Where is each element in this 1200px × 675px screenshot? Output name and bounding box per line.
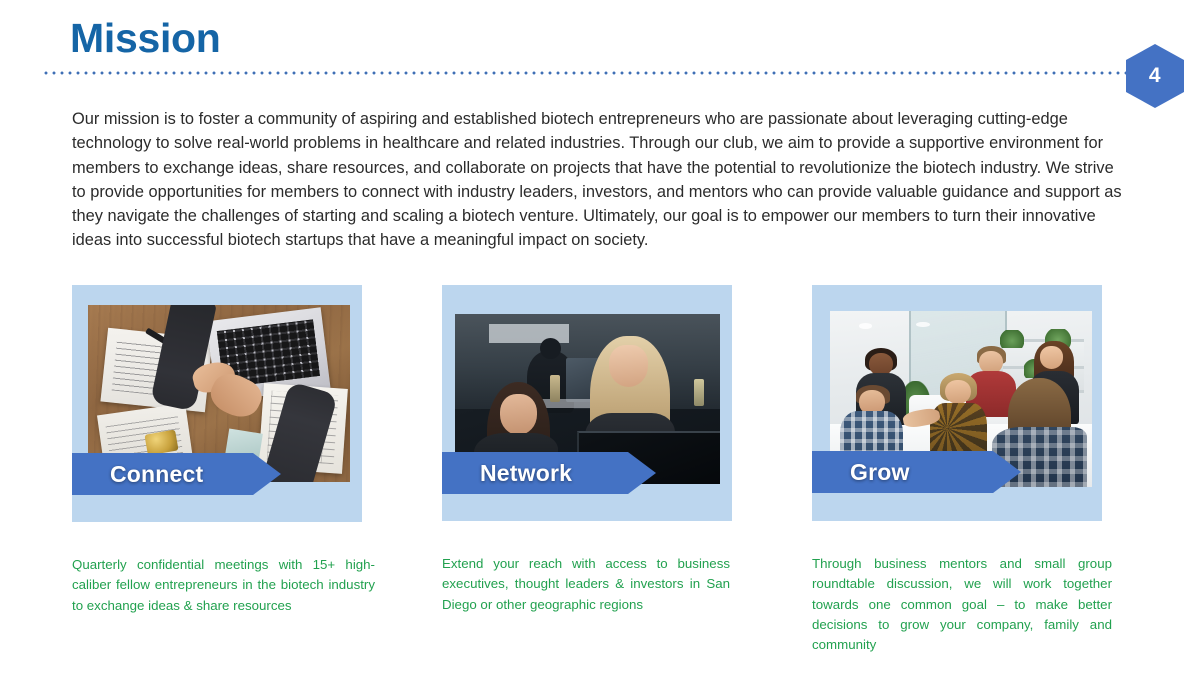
bottle-two-decor — [694, 379, 705, 406]
feature-card-grow: Grow Through business mentors and small … — [812, 285, 1102, 655]
plant-one-decor — [1000, 330, 1024, 348]
page-title: Mission — [70, 16, 221, 61]
right-woman-face-decor — [1040, 346, 1064, 369]
card-banner-label: Grow — [812, 459, 910, 486]
ceiling-light-one-decor — [859, 323, 872, 328]
brunette-woman-face-decor — [500, 394, 537, 435]
card-frame: Connect — [72, 285, 362, 522]
dotted-divider — [42, 71, 1127, 75]
card-frame: Network — [442, 285, 732, 521]
card-caption-network: Extend your reach with access to busines… — [442, 554, 730, 615]
card-banner-network: Network — [442, 452, 656, 494]
card-banner-label: Network — [442, 460, 572, 487]
card-caption-connect: Quarterly confidential meetings with 15+… — [72, 555, 375, 616]
ceiling-light-two-decor — [916, 322, 929, 327]
card-banner-label: Connect — [72, 461, 203, 488]
page-number-badge: 4 — [1126, 44, 1184, 108]
bottle-decor — [550, 375, 559, 402]
card-banner-grow: Grow — [812, 451, 1021, 493]
feature-card-network: Network Extend your reach with access to… — [442, 285, 732, 615]
mission-paragraph: Our mission is to foster a community of … — [72, 107, 1122, 253]
feature-card-connect: Connect Quarterly confidential meetings … — [72, 285, 362, 616]
card-frame: Grow — [812, 285, 1102, 521]
card-caption-grow: Through business mentors and small group… — [812, 554, 1112, 655]
feature-cards-row: Connect Quarterly confidential meetings … — [0, 285, 1200, 665]
card-banner-connect: Connect — [72, 453, 281, 495]
page-number-label: 4 — [1126, 44, 1184, 108]
